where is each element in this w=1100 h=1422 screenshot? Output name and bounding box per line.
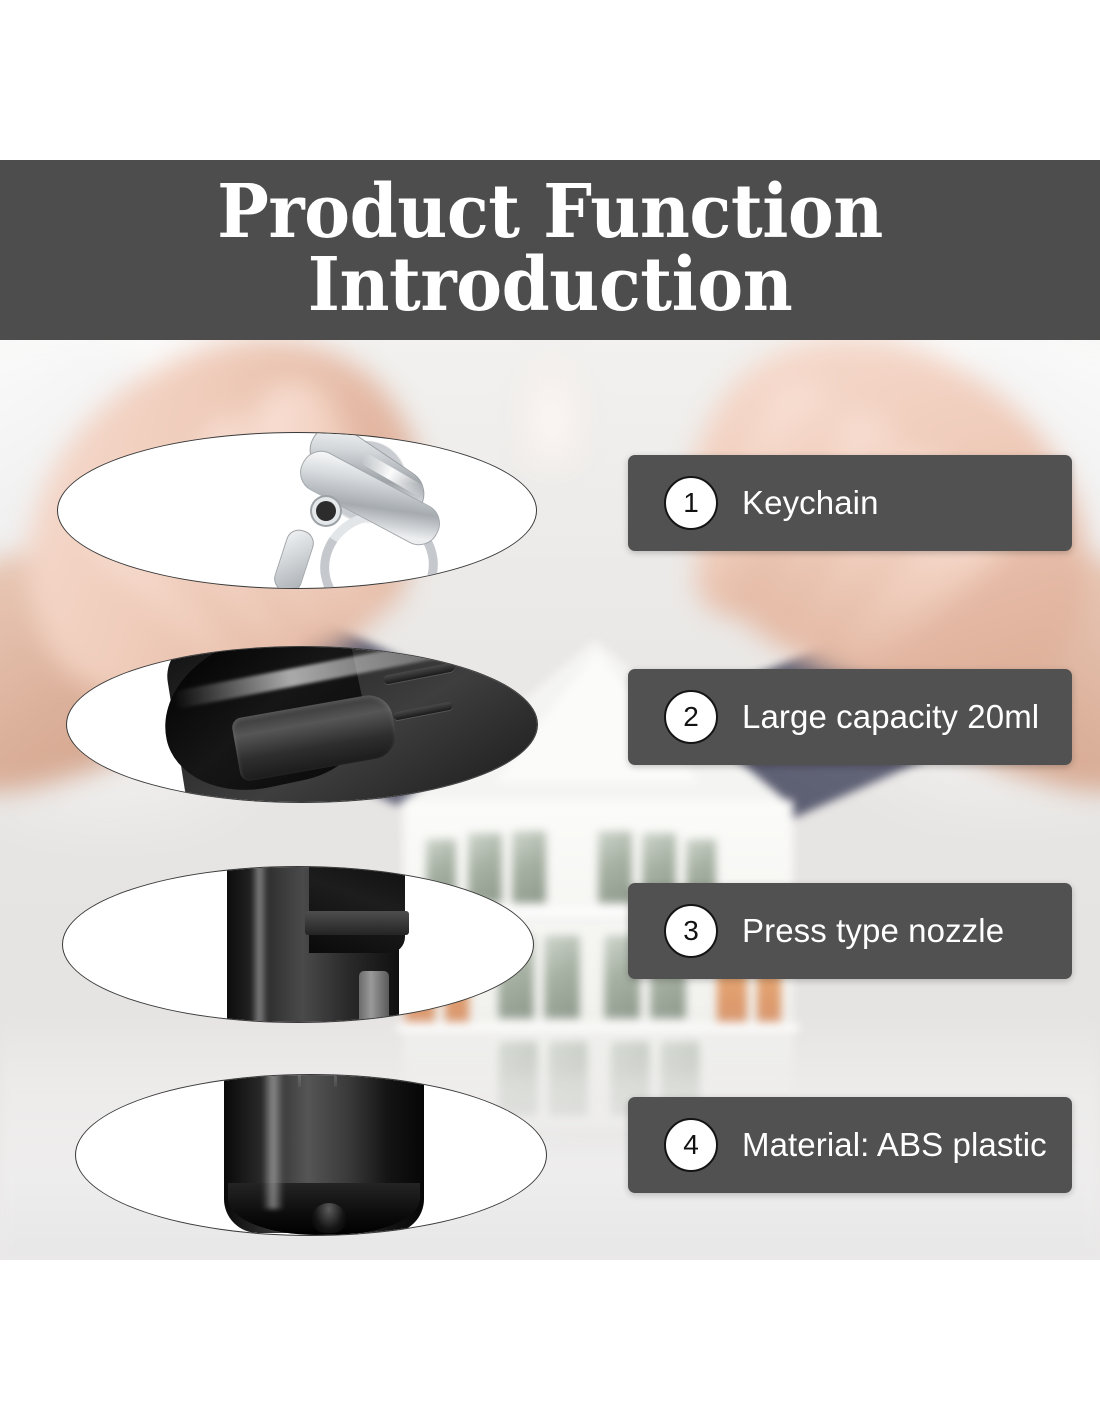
keychain-clasp-artwork <box>58 433 536 588</box>
bottle-body-artwork <box>67 647 537 802</box>
callout-label: Large capacity 20ml <box>742 698 1039 736</box>
nozzle-highlight <box>251 866 268 1023</box>
bottle-base-artwork <box>76 1075 546 1235</box>
page-title-line-1: Product Function <box>39 176 1062 249</box>
base-opening <box>312 1203 346 1233</box>
page-title-line-2: Introduction <box>39 249 1062 322</box>
callout-number-badge: 4 <box>664 1118 718 1172</box>
nozzle-stem <box>359 971 389 1023</box>
callout-keychain[interactable]: 1 Keychain <box>628 455 1072 551</box>
bottle-body-photo <box>66 646 538 803</box>
press-nozzle-artwork <box>63 867 533 1022</box>
callout-number-badge: 3 <box>664 904 718 958</box>
base-seam <box>334 1074 337 1087</box>
base-seam <box>298 1074 301 1087</box>
nozzle-notch <box>309 866 405 953</box>
bottle-base-photo <box>75 1074 547 1236</box>
callout-label: Keychain <box>742 484 879 522</box>
callout-material[interactable]: 4 Material: ABS plastic <box>628 1097 1072 1193</box>
clasp-pivot-hole <box>316 501 336 521</box>
nozzle-step <box>305 911 409 935</box>
header-band: Product Function Introduction <box>0 160 1100 340</box>
base-highlight <box>262 1074 284 1209</box>
page-title: Product Function Introduction <box>39 176 1062 323</box>
callout-label: Material: ABS plastic <box>742 1126 1047 1164</box>
callout-large-capacity[interactable]: 2 Large capacity 20ml <box>628 669 1072 765</box>
infographic-canvas: Product Function Introduction <box>0 0 1100 1422</box>
callout-label: Press type nozzle <box>742 912 1004 950</box>
bottom-margin <box>0 1260 1100 1422</box>
keychain-clasp-photo <box>57 432 537 589</box>
callout-number-badge: 1 <box>664 476 718 530</box>
press-nozzle-photo <box>62 866 534 1023</box>
callout-press-nozzle[interactable]: 3 Press type nozzle <box>628 883 1072 979</box>
callout-number-badge: 2 <box>664 690 718 744</box>
clasp-lever <box>271 526 317 589</box>
